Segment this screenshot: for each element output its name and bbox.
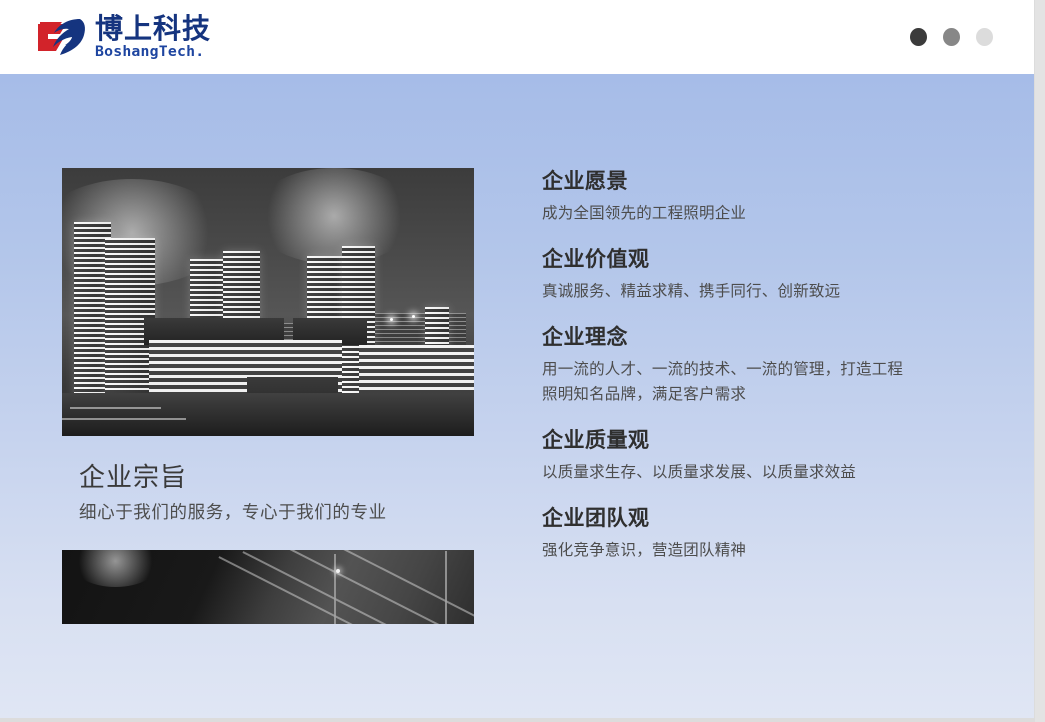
road-lamp-light xyxy=(336,569,340,573)
purpose-heading: 企业宗旨 xyxy=(79,462,474,495)
photo-ground xyxy=(62,393,474,436)
highway-aerial-photo xyxy=(62,550,474,624)
value-block-team: 企业团队观 强化竞争意识，营造团队精神 xyxy=(542,505,972,563)
purpose-block: 企业宗旨 细心于我们的服务，专心于我们的专业 xyxy=(62,462,474,526)
team-text: 强化竞争意识，营造团队精神 xyxy=(542,538,912,563)
site-logo[interactable]: 博上科技 BoshangTech. xyxy=(36,11,211,63)
vision-text: 成为全国领先的工程照明企业 xyxy=(542,201,912,226)
team-heading: 企业团队观 xyxy=(542,505,972,532)
values-heading: 企业价值观 xyxy=(542,246,972,273)
page-body: 企业宗旨 细心于我们的服务，专心于我们的专业 xyxy=(0,74,1034,722)
quality-heading: 企业质量观 xyxy=(542,427,972,454)
value-block-values: 企业价值观 真诚服务、精益求精、携手同行、创新致远 xyxy=(542,246,972,304)
photo-light-burst-1 xyxy=(390,318,393,321)
photo-podium-right xyxy=(359,345,474,393)
window-controls xyxy=(910,28,993,46)
page-bottom-edge xyxy=(0,718,1034,722)
window-control-dot-light[interactable] xyxy=(976,28,993,46)
window-control-dot-medium[interactable] xyxy=(943,28,960,46)
quality-text: 以质量求生存、以质量求发展、以质量求效益 xyxy=(542,460,912,485)
logo-wordmark: 博上科技 BoshangTech. xyxy=(95,14,211,60)
value-block-quality: 企业质量观 以质量求生存、以质量求发展、以质量求效益 xyxy=(542,427,972,485)
logo-chinese-name: 博上科技 xyxy=(95,14,211,43)
photo-road-streak-a xyxy=(62,418,186,420)
value-block-philosophy: 企业理念 用一流的人才、一流的技术、一流的管理，打造工程照明知名品牌，满足客户需… xyxy=(542,324,972,407)
values-text: 真诚服务、精益求精、携手同行、创新致远 xyxy=(542,279,912,304)
browser-viewport: 博上科技 BoshangTech. xyxy=(0,0,1045,722)
boshang-logo-mark-icon xyxy=(36,13,88,61)
photo-glow-right xyxy=(252,168,417,264)
photo-road-streak-b xyxy=(70,407,161,409)
road-light-pole-1 xyxy=(334,554,336,624)
vision-heading: 企业愿景 xyxy=(542,168,972,195)
window-control-dot-dark[interactable] xyxy=(910,28,927,46)
logo-english-name: BoshangTech. xyxy=(95,45,213,60)
site-header: 博上科技 BoshangTech. xyxy=(0,0,1034,74)
page-content: 博上科技 BoshangTech. xyxy=(0,0,1034,722)
right-column: 企业愿景 成为全国领先的工程照明企业 企业价值观 真诚服务、精益求精、携手同行、… xyxy=(542,168,972,563)
left-column: 企业宗旨 细心于我们的服务，专心于我们的专业 xyxy=(62,168,474,624)
city-night-skyline-photo xyxy=(62,168,474,436)
vertical-scrollbar[interactable] xyxy=(1034,0,1045,722)
road-light-pole-2 xyxy=(445,551,447,624)
philosophy-heading: 企业理念 xyxy=(542,324,972,351)
value-block-vision: 企业愿景 成为全国领先的工程照明企业 xyxy=(542,168,972,226)
philosophy-text: 用一流的人才、一流的技术、一流的管理，打造工程照明知名品牌，满足客户需求 xyxy=(542,357,912,407)
purpose-text: 细心于我们的服务，专心于我们的专业 xyxy=(79,500,474,526)
